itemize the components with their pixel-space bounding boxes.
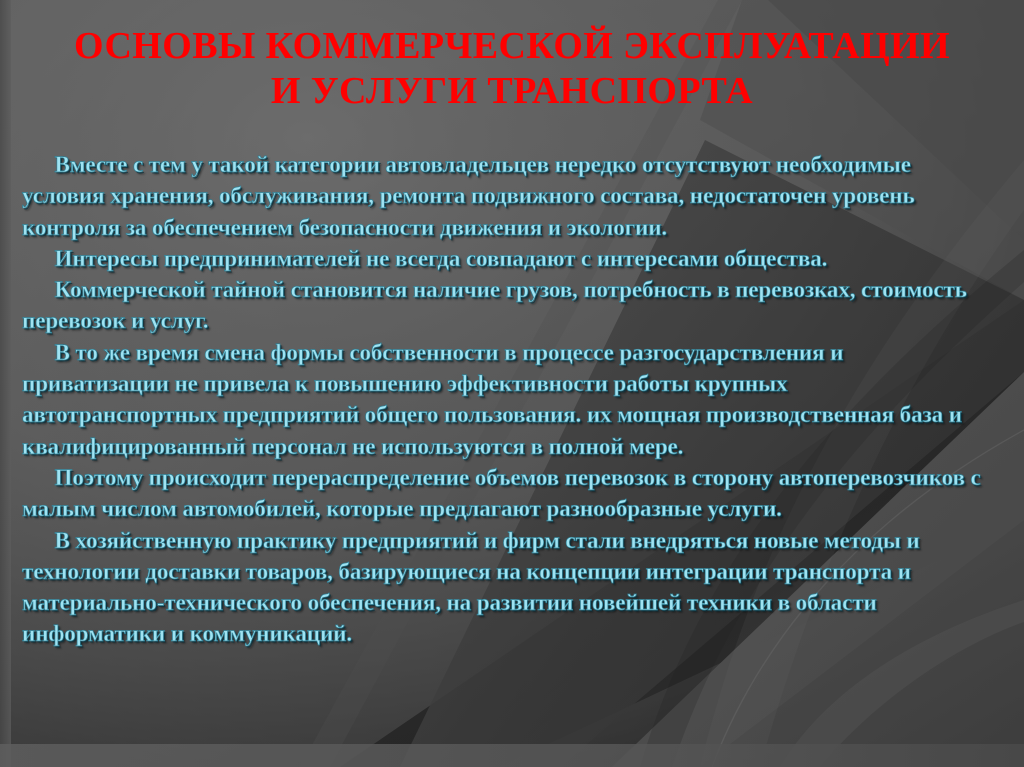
presentation-slide: ОСНОВЫ КОММЕРЧЕСКОЙ ЭКСПЛУАТАЦИИ И УСЛУГ… — [0, 0, 1024, 767]
body-paragraph: Вместе с тем у такой категории автовладе… — [22, 150, 987, 244]
title-line-1: ОСНОВЫ КОММЕРЧЕСКОЙ ЭКСПЛУАТАЦИИ — [0, 24, 1024, 69]
edge-strip-bottom — [0, 744, 1024, 767]
body-paragraph: В хозяйственную практику предприятий и ф… — [22, 526, 987, 651]
body-paragraph: Коммерческой тайной становится наличие г… — [22, 275, 987, 338]
title-line-2: И УСЛУГИ ТРАНСПОРТА — [0, 69, 1024, 114]
page-title: ОСНОВЫ КОММЕРЧЕСКОЙ ЭКСПЛУАТАЦИИ И УСЛУГ… — [0, 24, 1024, 114]
edge-strip-left — [0, 0, 11, 767]
body-paragraph: Поэтому происходит перераспределение объ… — [22, 463, 987, 526]
body-paragraph: В то же время смена формы собственности … — [22, 338, 987, 463]
body-paragraph: Интересы предпринимателей не всегда совп… — [22, 244, 987, 275]
slide-body: Вместе с тем у такой категории автовладе… — [22, 150, 1002, 651]
